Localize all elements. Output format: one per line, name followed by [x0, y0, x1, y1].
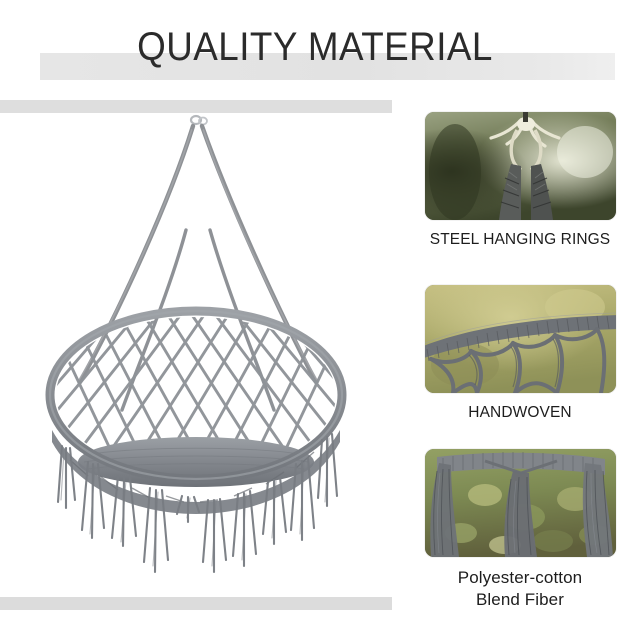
- feature-photo-steel-hanging-rings: [425, 112, 616, 220]
- product-image-macrame-hanging-chair: [0, 110, 400, 600]
- page-title: QUALITY MATERIAL: [25, 25, 605, 69]
- handwoven-photo: [425, 285, 616, 393]
- infographic-page: QUALITY MATERIAL: [0, 0, 630, 630]
- feature-item-polyester-cotton-blend-fiber: Polyester-cotton Blend Fiber: [410, 449, 630, 611]
- steel-hanging-rings-photo: [425, 112, 616, 220]
- feature-caption-line-2: Blend Fiber: [410, 589, 630, 611]
- feature-caption-handwoven: HANDWOVEN: [410, 403, 630, 423]
- feature-caption-line-1: Polyester-cotton: [410, 567, 630, 589]
- feature-item-handwoven: HANDWOVEN: [410, 285, 630, 423]
- polyester-cotton-blend-fiber-photo: [425, 449, 616, 557]
- suspension-ropes: [80, 126, 316, 382]
- feature-list: STEEL HANGING RINGS: [410, 112, 630, 624]
- feature-item-steel-hanging-rings: STEEL HANGING RINGS: [410, 112, 630, 250]
- feature-caption-polyester-cotton-blend-fiber: Polyester-cotton Blend Fiber: [410, 567, 630, 611]
- feature-photo-polyester-cotton-blend-fiber: [425, 449, 616, 557]
- feature-caption-steel-hanging-rings: STEEL HANGING RINGS: [410, 230, 630, 250]
- steel-hook: [191, 116, 207, 125]
- product-illustration: [0, 110, 400, 600]
- feature-photo-handwoven: [425, 285, 616, 393]
